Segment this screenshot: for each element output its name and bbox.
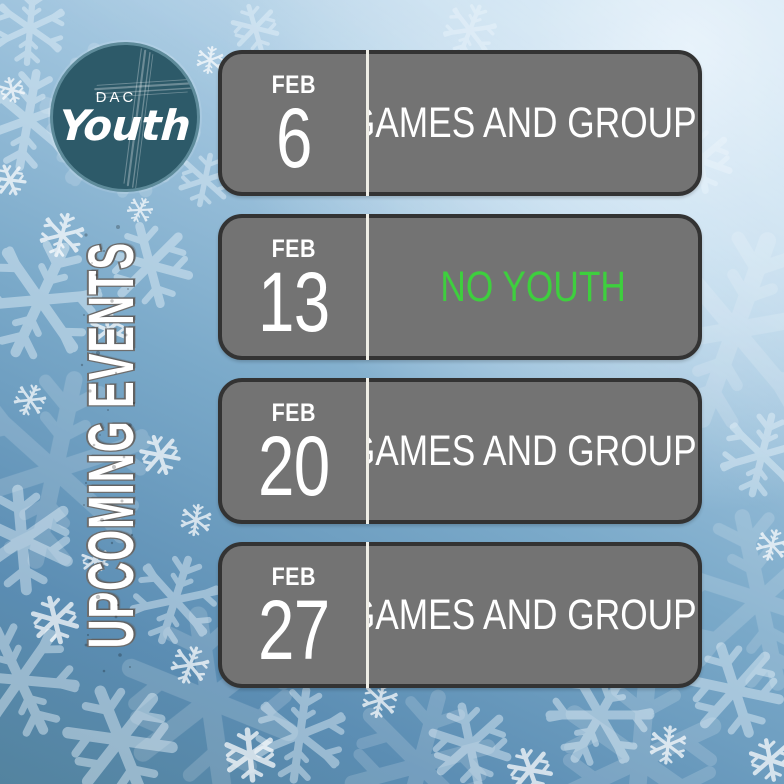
upcoming-events-label: UPCOMING EVENTS (79, 242, 143, 649)
event-card[interactable]: FEB 20 GAMES AND GROUPS (218, 378, 702, 524)
event-day: 13 (258, 264, 329, 341)
event-date: FEB 20 (222, 382, 366, 520)
upcoming-events-heading: UPCOMING EVENTS (46, 205, 176, 685)
logo-text: DAC Youth (53, 45, 197, 189)
event-card-list: FEB 6 GAMES AND GROUPS FEB 13 NO YOUTH F… (218, 50, 702, 688)
event-date: FEB 6 (222, 54, 366, 192)
event-title: GAMES AND GROUPS (369, 102, 698, 145)
event-title: GAMES AND GROUPS (369, 430, 698, 473)
event-date: FEB 13 (222, 218, 366, 356)
event-card[interactable]: FEB 13 NO YOUTH (218, 214, 702, 360)
event-title-cell: NO YOUTH (369, 218, 698, 356)
event-title: GAMES AND GROUPS (369, 594, 698, 637)
event-card[interactable]: FEB 6 GAMES AND GROUPS (218, 50, 702, 196)
event-card[interactable]: FEB 27 GAMES AND GROUPS (218, 542, 702, 688)
event-date: FEB 27 (222, 546, 366, 684)
logo: DAC Youth (50, 42, 200, 192)
event-title-cell: GAMES AND GROUPS (369, 546, 698, 684)
event-title-cell: GAMES AND GROUPS (369, 54, 698, 192)
event-title-cell: GAMES AND GROUPS (369, 382, 698, 520)
logo-main-text: Youth (58, 107, 192, 146)
event-day: 6 (276, 100, 312, 177)
event-title: NO YOUTH (441, 266, 626, 309)
event-day: 20 (258, 428, 329, 505)
event-day: 27 (258, 592, 329, 669)
poster-canvas: DAC Youth UPCOMING EVENTS (0, 0, 784, 784)
logo-circle: DAC Youth (50, 42, 200, 192)
